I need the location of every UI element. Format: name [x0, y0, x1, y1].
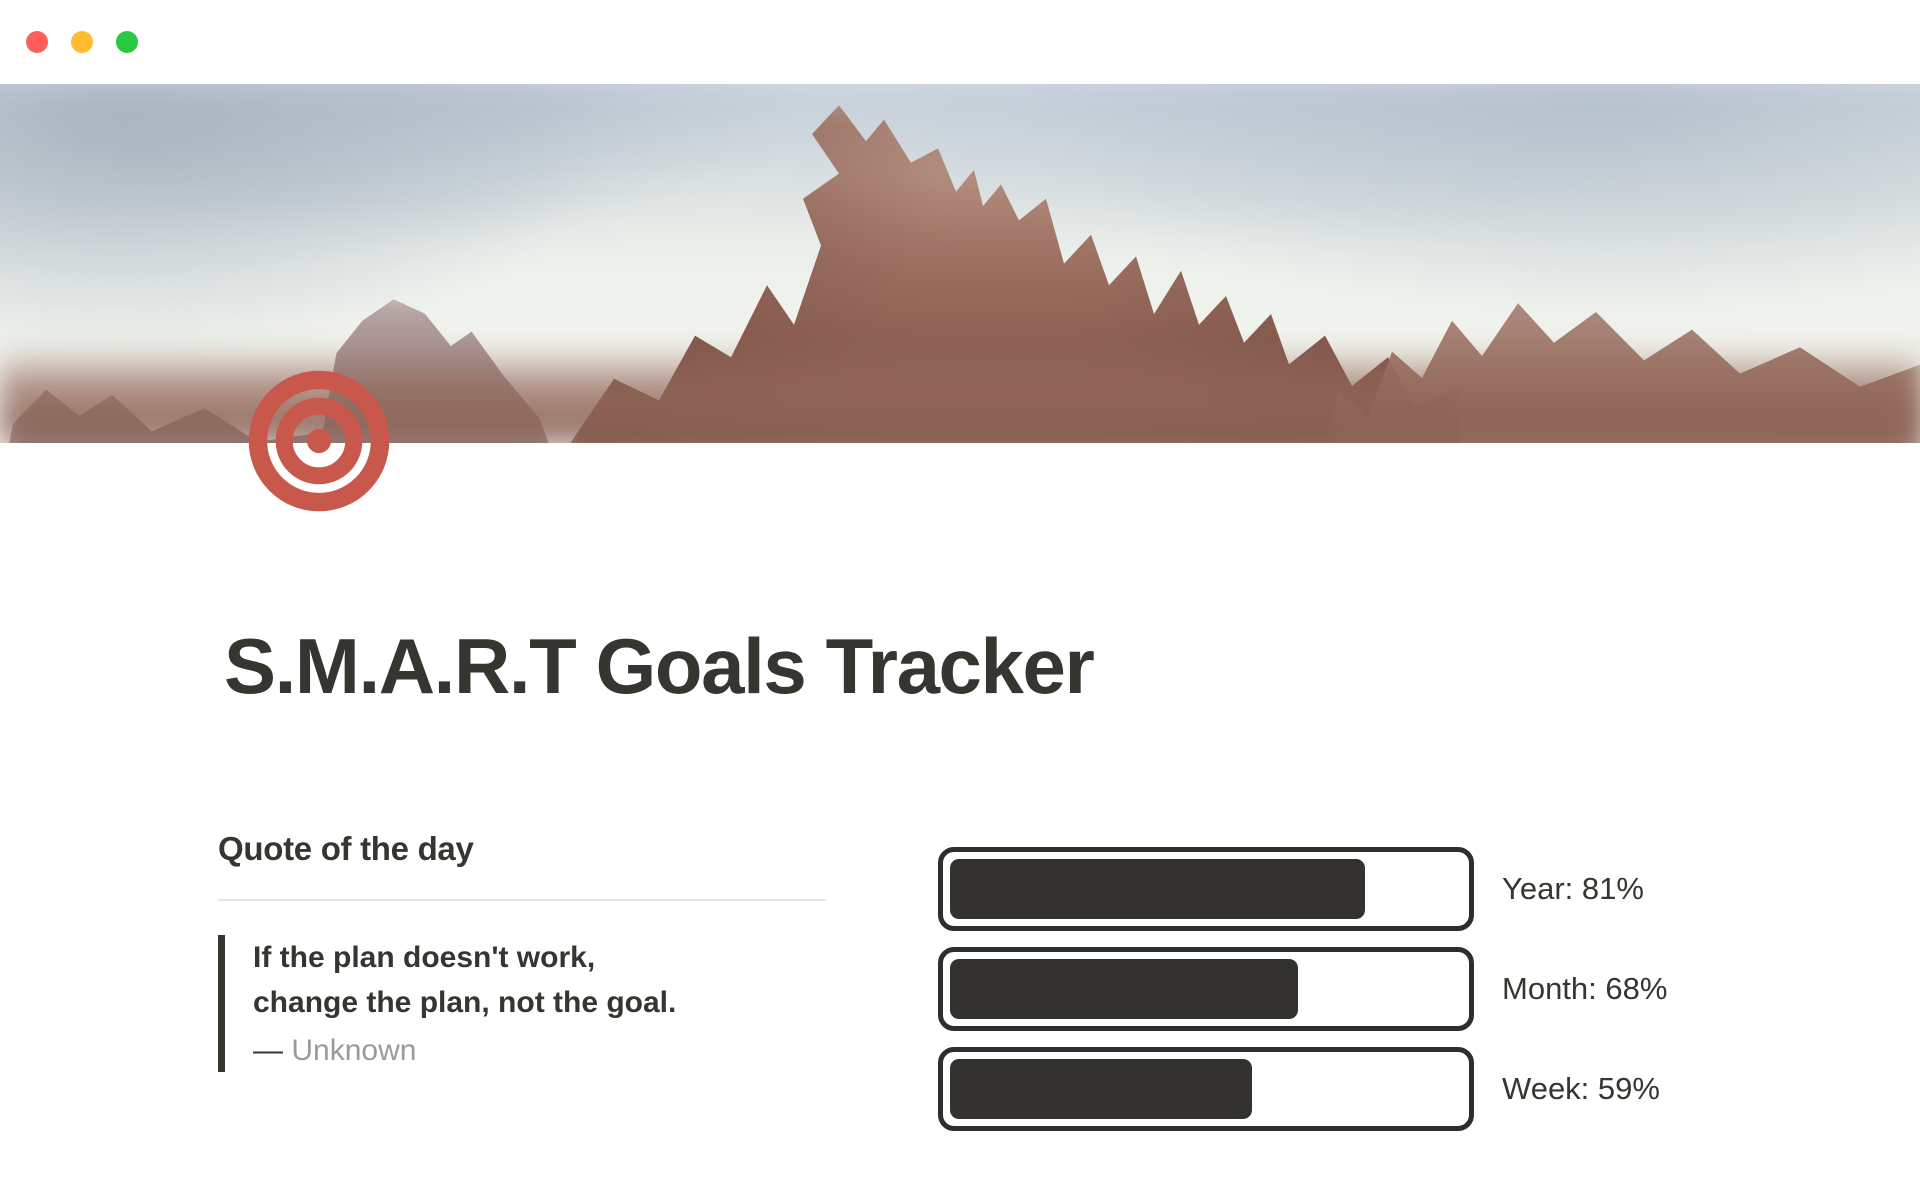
quote-text-line-1: If the plan doesn't work,: [253, 935, 838, 981]
progress-track-year[interactable]: [938, 847, 1474, 931]
progress-track-week[interactable]: [938, 1047, 1474, 1131]
quote-attribution: — Unknown: [253, 1030, 838, 1072]
progress-row-month: Month: 68%: [938, 939, 1838, 1039]
progress-fill-month: [950, 959, 1298, 1019]
progress-label-week: Week: 59%: [1502, 1071, 1660, 1107]
page-title[interactable]: S.M.A.R.T Goals Tracker: [224, 627, 1093, 707]
quote-text-line-2: change the plan, not the goal.: [253, 980, 838, 1026]
progress-label-month: Month: 68%: [1502, 971, 1667, 1007]
progress-fill-year: [950, 859, 1365, 919]
quote-section-heading[interactable]: Quote of the day: [218, 829, 838, 869]
progress-bars-section: Year: 81% Month: 68% Week: 59%: [938, 839, 1838, 1139]
progress-track-month[interactable]: [938, 947, 1474, 1031]
quote-attribution-dash: —: [253, 1034, 283, 1067]
minimize-window-button[interactable]: [71, 31, 93, 53]
quote-blockquote[interactable]: If the plan doesn't work, change the pla…: [218, 935, 838, 1072]
progress-label-year: Year: 81%: [1502, 871, 1644, 907]
page-body: S.M.A.R.T Goals Tracker Quote of the day…: [0, 443, 1920, 1200]
quote-author: Unknown: [291, 1034, 416, 1067]
maximize-window-button[interactable]: [116, 31, 138, 53]
close-window-button[interactable]: [26, 31, 48, 53]
progress-row-year: Year: 81%: [938, 839, 1838, 939]
progress-row-week: Week: 59%: [938, 1039, 1838, 1139]
section-divider: [218, 899, 826, 901]
progress-fill-week: [950, 1059, 1252, 1119]
window-title-bar: [0, 0, 1920, 84]
quote-of-the-day-section: Quote of the day If the plan doesn't wor…: [218, 829, 838, 1072]
bullseye-target-icon[interactable]: [248, 370, 390, 512]
traffic-light-group: [26, 31, 138, 53]
